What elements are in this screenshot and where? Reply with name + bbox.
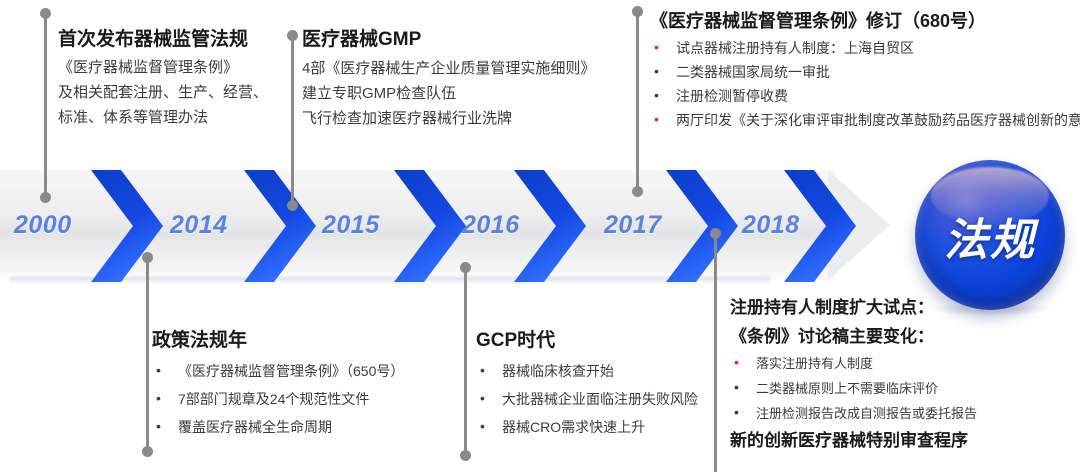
block-2014-gmp-line-1: 4部《医疗器械生产企业质量管理实施细则》: [302, 56, 602, 81]
year-label-2015: 2015: [322, 211, 380, 240]
block-2014-policy-year-title: 政策法规年: [152, 325, 462, 357]
connector-line-2014-bottom: [146, 256, 149, 452]
connector-dot-2014-bottom-top: [142, 252, 153, 263]
connector-line-2016-bottom: [464, 266, 467, 456]
connector-dot-2016-bottom-top: [460, 262, 471, 273]
connector-dot-2000-top: [40, 8, 51, 19]
connector-dot-2000-bottom: [40, 192, 51, 203]
block-2016-gcp-list: 器械临床核查开始 大批器械企业面临注册失败风险 器械CRO需求快速上升: [476, 357, 746, 441]
sphere-label: 法规: [915, 204, 1065, 268]
list-item: 大批器械企业面临注册失败风险: [476, 385, 746, 413]
connector-dot-2017-top-end: [632, 186, 643, 197]
connector-dot-2018-bottom-top: [710, 228, 721, 239]
connector-line-2000: [44, 12, 47, 198]
list-item: 二类器械国家局统一审批: [650, 60, 1075, 84]
list-item: 两厅印发《关于深化审评审批制度改革鼓励药品医疗器械创新的意见》: [650, 108, 1068, 132]
block-2018-mah-title-1: 注册持有人制度扩大试点：: [730, 293, 1075, 322]
connector-dot-2014-bottom-end: [142, 446, 153, 457]
block-2016-gcp: GCP时代 器械临床核查开始 大批器械企业面临注册失败风险 器械CRO需求快速上…: [476, 325, 746, 441]
connector-dot-2017-top-top: [632, 6, 643, 17]
block-2014-gmp: 医疗器械GMP 4部《医疗器械生产企业质量管理实施细则》 建立专职GMP检查队伍…: [302, 24, 602, 131]
block-2016-gcp-title: GCP时代: [476, 325, 746, 357]
block-2000-line-1: 《医疗器械监督管理条例》: [58, 55, 298, 80]
block-2018-mah-list: 落实注册持有人制度 二类器械原则上不需要临床评价 注册检测报告改成自测报告或委托…: [730, 351, 1075, 426]
list-item: 试点器械注册持有人制度：上海自贸区: [650, 36, 1075, 60]
list-item: 7部部门规章及24个规范性文件: [152, 385, 462, 413]
year-label-2017: 2017: [604, 211, 662, 240]
block-2018-mah-title-2: 《条例》讨论稿主要变化：: [730, 322, 1075, 351]
list-item: 落实注册持有人制度: [730, 351, 1075, 376]
connector-dot-2016-bottom-end: [460, 450, 471, 461]
list-item: 二类器械原则上不需要临床评价: [730, 376, 1075, 401]
block-2014-gmp-line-2: 建立专职GMP检查队伍: [302, 81, 602, 106]
chevron-1: [85, 170, 169, 282]
block-2018-mah: 注册持有人制度扩大试点： 《条例》讨论稿主要变化： 落实注册持有人制度 二类器械…: [730, 293, 1075, 456]
list-item: 注册检测暂停收费: [650, 84, 1075, 108]
chevron-5: [660, 170, 744, 282]
timeline-infographic: 2000 2014 2015 2016 2017 2018 法规 首次发布器械监…: [0, 0, 1080, 475]
list-item: 覆盖医疗器械全生命周期: [152, 413, 462, 441]
connector-line-2017-top: [636, 10, 639, 192]
list-item: 《医疗器械监督管理条例》（650号）: [152, 357, 462, 385]
block-2014-policy-year-list: 《医疗器械监督管理条例》（650号） 7部部门规章及24个规范性文件 覆盖医疗器…: [152, 357, 462, 441]
year-label-2018: 2018: [742, 211, 800, 240]
block-2017-680-list: 试点器械注册持有人制度：上海自贸区 二类器械国家局统一审批 注册检测暂停收费 两…: [650, 36, 1075, 132]
block-2014-gmp-title: 医疗器械GMP: [302, 24, 602, 56]
year-label-2016: 2016: [462, 211, 520, 240]
block-2000-title: 首次发布器械监管法规: [58, 25, 298, 55]
chevron-4: [508, 170, 592, 282]
list-item: 器械临床核查开始: [476, 357, 746, 385]
block-2014-gmp-line-3: 飞行检查加速医疗器械行业洗牌: [302, 106, 602, 131]
year-label-2014: 2014: [170, 211, 228, 240]
block-2000: 首次发布器械监管法规 《医疗器械监督管理条例》 及相关配套注册、生产、经营、 标…: [58, 25, 298, 130]
year-label-2000: 2000: [14, 211, 72, 240]
block-2000-line-2: 及相关配套注册、生产、经营、: [58, 80, 298, 105]
list-item: 注册检测报告改成自测报告或委托报告: [730, 401, 1075, 426]
chevron-2: [238, 170, 322, 282]
connector-dot-2014-top-end: [287, 200, 298, 211]
block-2017-680: 《医疗器械监督管理条例》修订（680号） 试点器械注册持有人制度：上海自贸区 二…: [650, 6, 1075, 132]
block-2017-680-title: 《医疗器械监督管理条例》修订（680号）: [650, 6, 1075, 36]
block-2018-mah-footer: 新的创新医疗器械特别审查程序: [730, 426, 1075, 456]
block-2000-line-3: 标准、体系等管理办法: [58, 105, 298, 130]
list-item: 器械CRO需求快速上升: [476, 413, 746, 441]
block-2014-policy-year: 政策法规年 《医疗器械监督管理条例》（650号） 7部部门规章及24个规范性文件…: [152, 325, 462, 441]
